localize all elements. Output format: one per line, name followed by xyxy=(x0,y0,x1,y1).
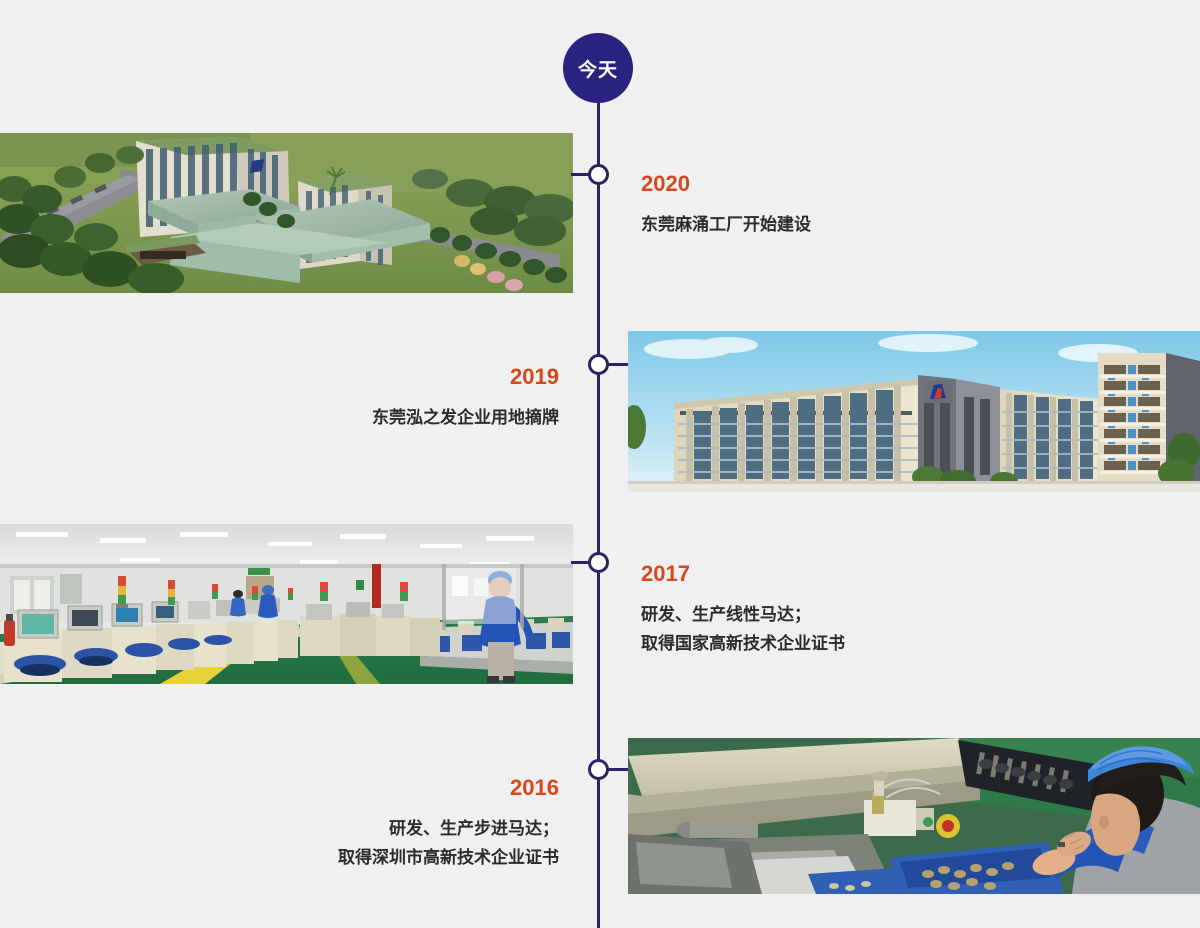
entry-desc-line: 东莞麻涌工厂开始建设 xyxy=(641,210,811,239)
photo-dongguan-hongzhifa-building-rendering xyxy=(628,331,1200,492)
assembly-station-photo-graphic xyxy=(628,738,1200,894)
timeline-node-2020[interactable] xyxy=(588,164,609,185)
timeline-spine xyxy=(597,96,600,928)
entry-2020: 2020 东莞麻涌工厂开始建设 xyxy=(641,172,811,239)
entry-desc-2017: 研发、生产线性马达； 取得国家高新技术企业证书 xyxy=(641,600,845,658)
timeline-node-2019[interactable] xyxy=(588,354,609,375)
entry-year-2017: 2017 xyxy=(641,562,845,586)
company-history-timeline: 今天 xyxy=(0,0,1200,928)
timeline-node-2017[interactable] xyxy=(588,552,609,573)
timeline-today-bubble: 今天 xyxy=(563,33,633,103)
entry-2016: 2016 研发、生产步进马达； 取得深圳市高新技术企业证书 xyxy=(338,776,559,873)
photo-stepper-motor-assembly xyxy=(628,738,1200,894)
entry-2019: 2019 东莞泓之发企业用地摘牌 xyxy=(372,365,559,432)
entry-year-2019: 2019 xyxy=(372,365,559,389)
entry-2017: 2017 研发、生产线性马达； 取得国家高新技术企业证书 xyxy=(641,562,845,659)
entry-desc-line: 研发、生产步进马达； xyxy=(338,814,559,843)
photo-linear-motor-production-line xyxy=(0,524,573,684)
timeline-node-2016[interactable] xyxy=(588,759,609,780)
production-line-photo-graphic xyxy=(0,524,573,684)
entry-year-2016: 2016 xyxy=(338,776,559,800)
entry-desc-2020: 东莞麻涌工厂开始建设 xyxy=(641,210,811,239)
entry-desc-line: 东莞泓之发企业用地摘牌 xyxy=(372,403,559,432)
photo-dongguan-machong-factory-aerial-rendering xyxy=(0,133,573,293)
entry-desc-line: 取得国家高新技术企业证书 xyxy=(641,629,845,658)
aerial-factory-rendering-graphic xyxy=(0,133,573,293)
entry-desc-line: 研发、生产线性马达； xyxy=(641,600,845,629)
office-building-rendering-graphic xyxy=(628,331,1200,492)
entry-year-2020: 2020 xyxy=(641,172,811,196)
today-label: 今天 xyxy=(578,55,618,82)
entry-desc-line: 取得深圳市高新技术企业证书 xyxy=(338,843,559,872)
entry-desc-2016: 研发、生产步进马达； 取得深圳市高新技术企业证书 xyxy=(338,814,559,872)
entry-desc-2019: 东莞泓之发企业用地摘牌 xyxy=(372,403,559,432)
